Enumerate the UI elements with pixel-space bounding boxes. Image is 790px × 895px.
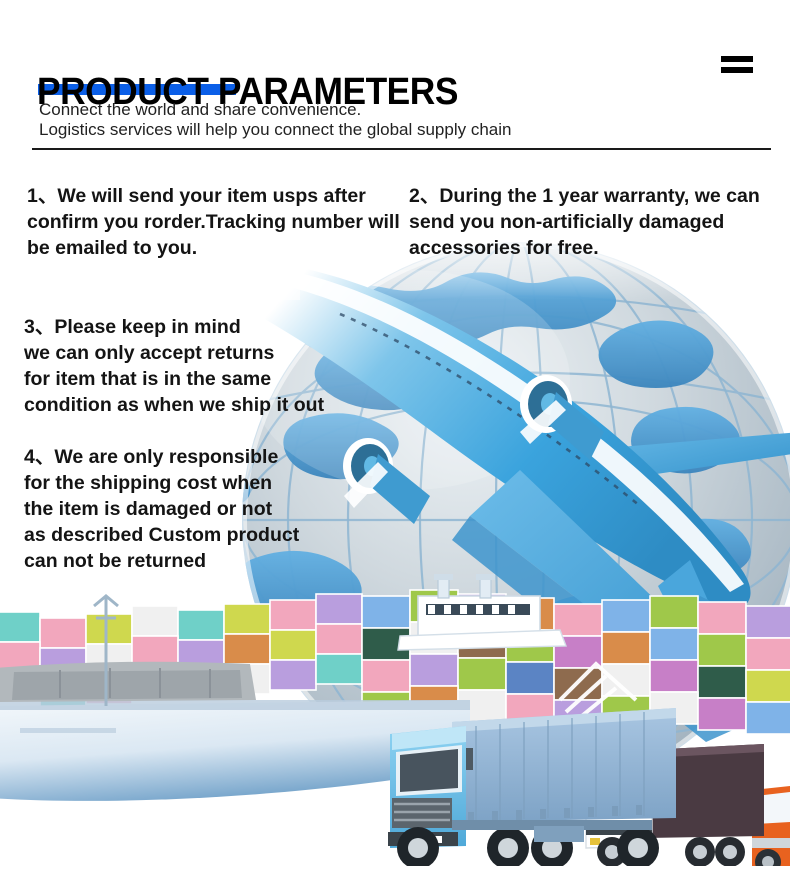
subtitle-line-1: Connect the world and share convenience. xyxy=(39,100,511,120)
policy-item-2: 2、During the 1 year warranty, we can sen… xyxy=(409,183,787,261)
container-stack-left xyxy=(0,594,362,708)
policy-item-4: 4、We are only responsible for the shippi… xyxy=(24,444,354,574)
product-parameters-page: PRODUCT PARAMETERS Connect the world and… xyxy=(0,0,790,895)
semi-truck-graphic xyxy=(388,708,676,869)
ship-bridge xyxy=(398,574,566,650)
subtitle-line-2: Logistics services will help you connect… xyxy=(39,120,511,140)
container-ship-graphic xyxy=(0,574,790,801)
policy-item-3: 3、Please keep in mind we can only accept… xyxy=(24,314,364,418)
delivery-van-graphic xyxy=(586,744,764,867)
port-crane xyxy=(560,664,636,724)
container-stack-right xyxy=(362,590,790,734)
ship-hull xyxy=(0,596,470,801)
menu-bar-2 xyxy=(721,67,753,73)
menu-bar-1 xyxy=(721,56,753,62)
page-header: PRODUCT PARAMETERS Connect the world and… xyxy=(0,0,790,150)
header-divider xyxy=(32,148,771,150)
header-subtitle: Connect the world and share convenience.… xyxy=(39,100,511,140)
policy-item-1: 1、We will send your item usps after conf… xyxy=(27,183,409,261)
hamburger-menu-icon[interactable] xyxy=(721,56,753,78)
orange-pickup-graphic xyxy=(752,786,790,875)
